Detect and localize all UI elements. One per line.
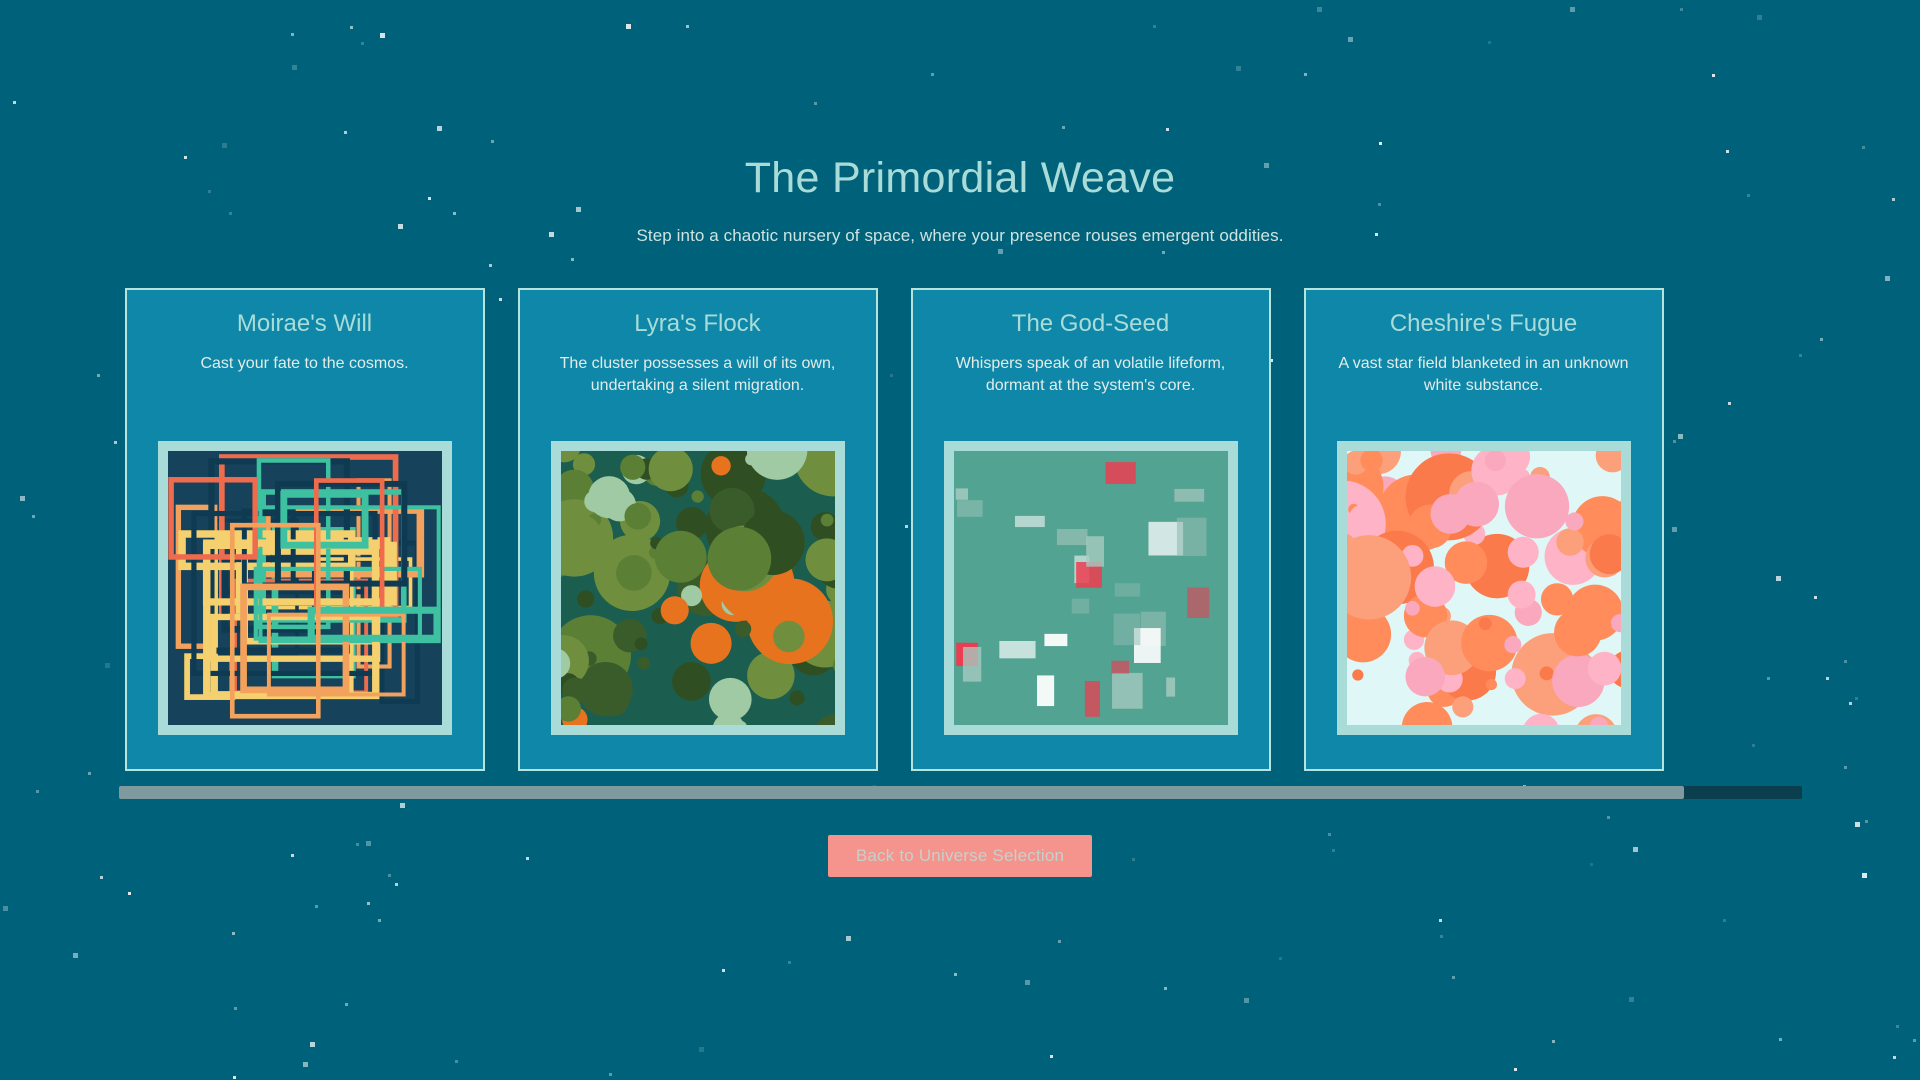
universe-card[interactable]: The God-SeedWhispers speak of an volatil… <box>911 288 1271 771</box>
page-header: The Primordial Weave Step into a chaotic… <box>0 155 1920 246</box>
card-description: Cast your fate to the cosmos. <box>160 353 450 427</box>
universe-card[interactable]: Cheshire's FugueA vast star field blanke… <box>1304 288 1664 771</box>
card-description: A vast star field blanketed in an unknow… <box>1339 353 1629 427</box>
page-title: The Primordial Weave <box>0 155 1920 202</box>
card-carousel[interactable]: Moirae's WillCast your fate to the cosmo… <box>119 288 1802 772</box>
green-flock-art <box>561 451 835 725</box>
universe-card[interactable]: Lyra's FlockThe cluster possesses a will… <box>518 288 878 771</box>
universe-card[interactable]: Moirae's WillCast your fate to the cosmo… <box>125 288 485 771</box>
card-description: Whispers speak of an volatile lifeform, … <box>946 353 1236 427</box>
carousel-track: Moirae's WillCast your fate to the cosmo… <box>119 288 1802 772</box>
pink-bloom-art <box>1347 451 1621 725</box>
card-art-frame <box>551 441 845 735</box>
card-art-frame <box>1337 441 1631 735</box>
back-to-universe-selection-button[interactable]: Back to Universe Selection <box>828 835 1092 877</box>
seeded-field-art <box>954 451 1228 725</box>
card-art-frame <box>158 441 452 735</box>
card-title: Cheshire's Fugue <box>1390 310 1577 339</box>
card-description: The cluster possesses a will of its own,… <box>553 353 843 427</box>
carousel-scrollbar-track[interactable] <box>119 786 1802 799</box>
page-subtitle: Step into a chaotic nursery of space, wh… <box>0 226 1920 246</box>
card-title: Lyra's Flock <box>634 310 760 339</box>
card-title: Moirae's Will <box>237 310 372 339</box>
woven-grid-art <box>168 451 442 725</box>
carousel-scrollbar-thumb[interactable] <box>119 786 1684 799</box>
card-art-frame <box>944 441 1238 735</box>
universe-page: The Primordial Weave Step into a chaotic… <box>0 0 1920 1080</box>
card-title: The God-Seed <box>1012 310 1169 339</box>
